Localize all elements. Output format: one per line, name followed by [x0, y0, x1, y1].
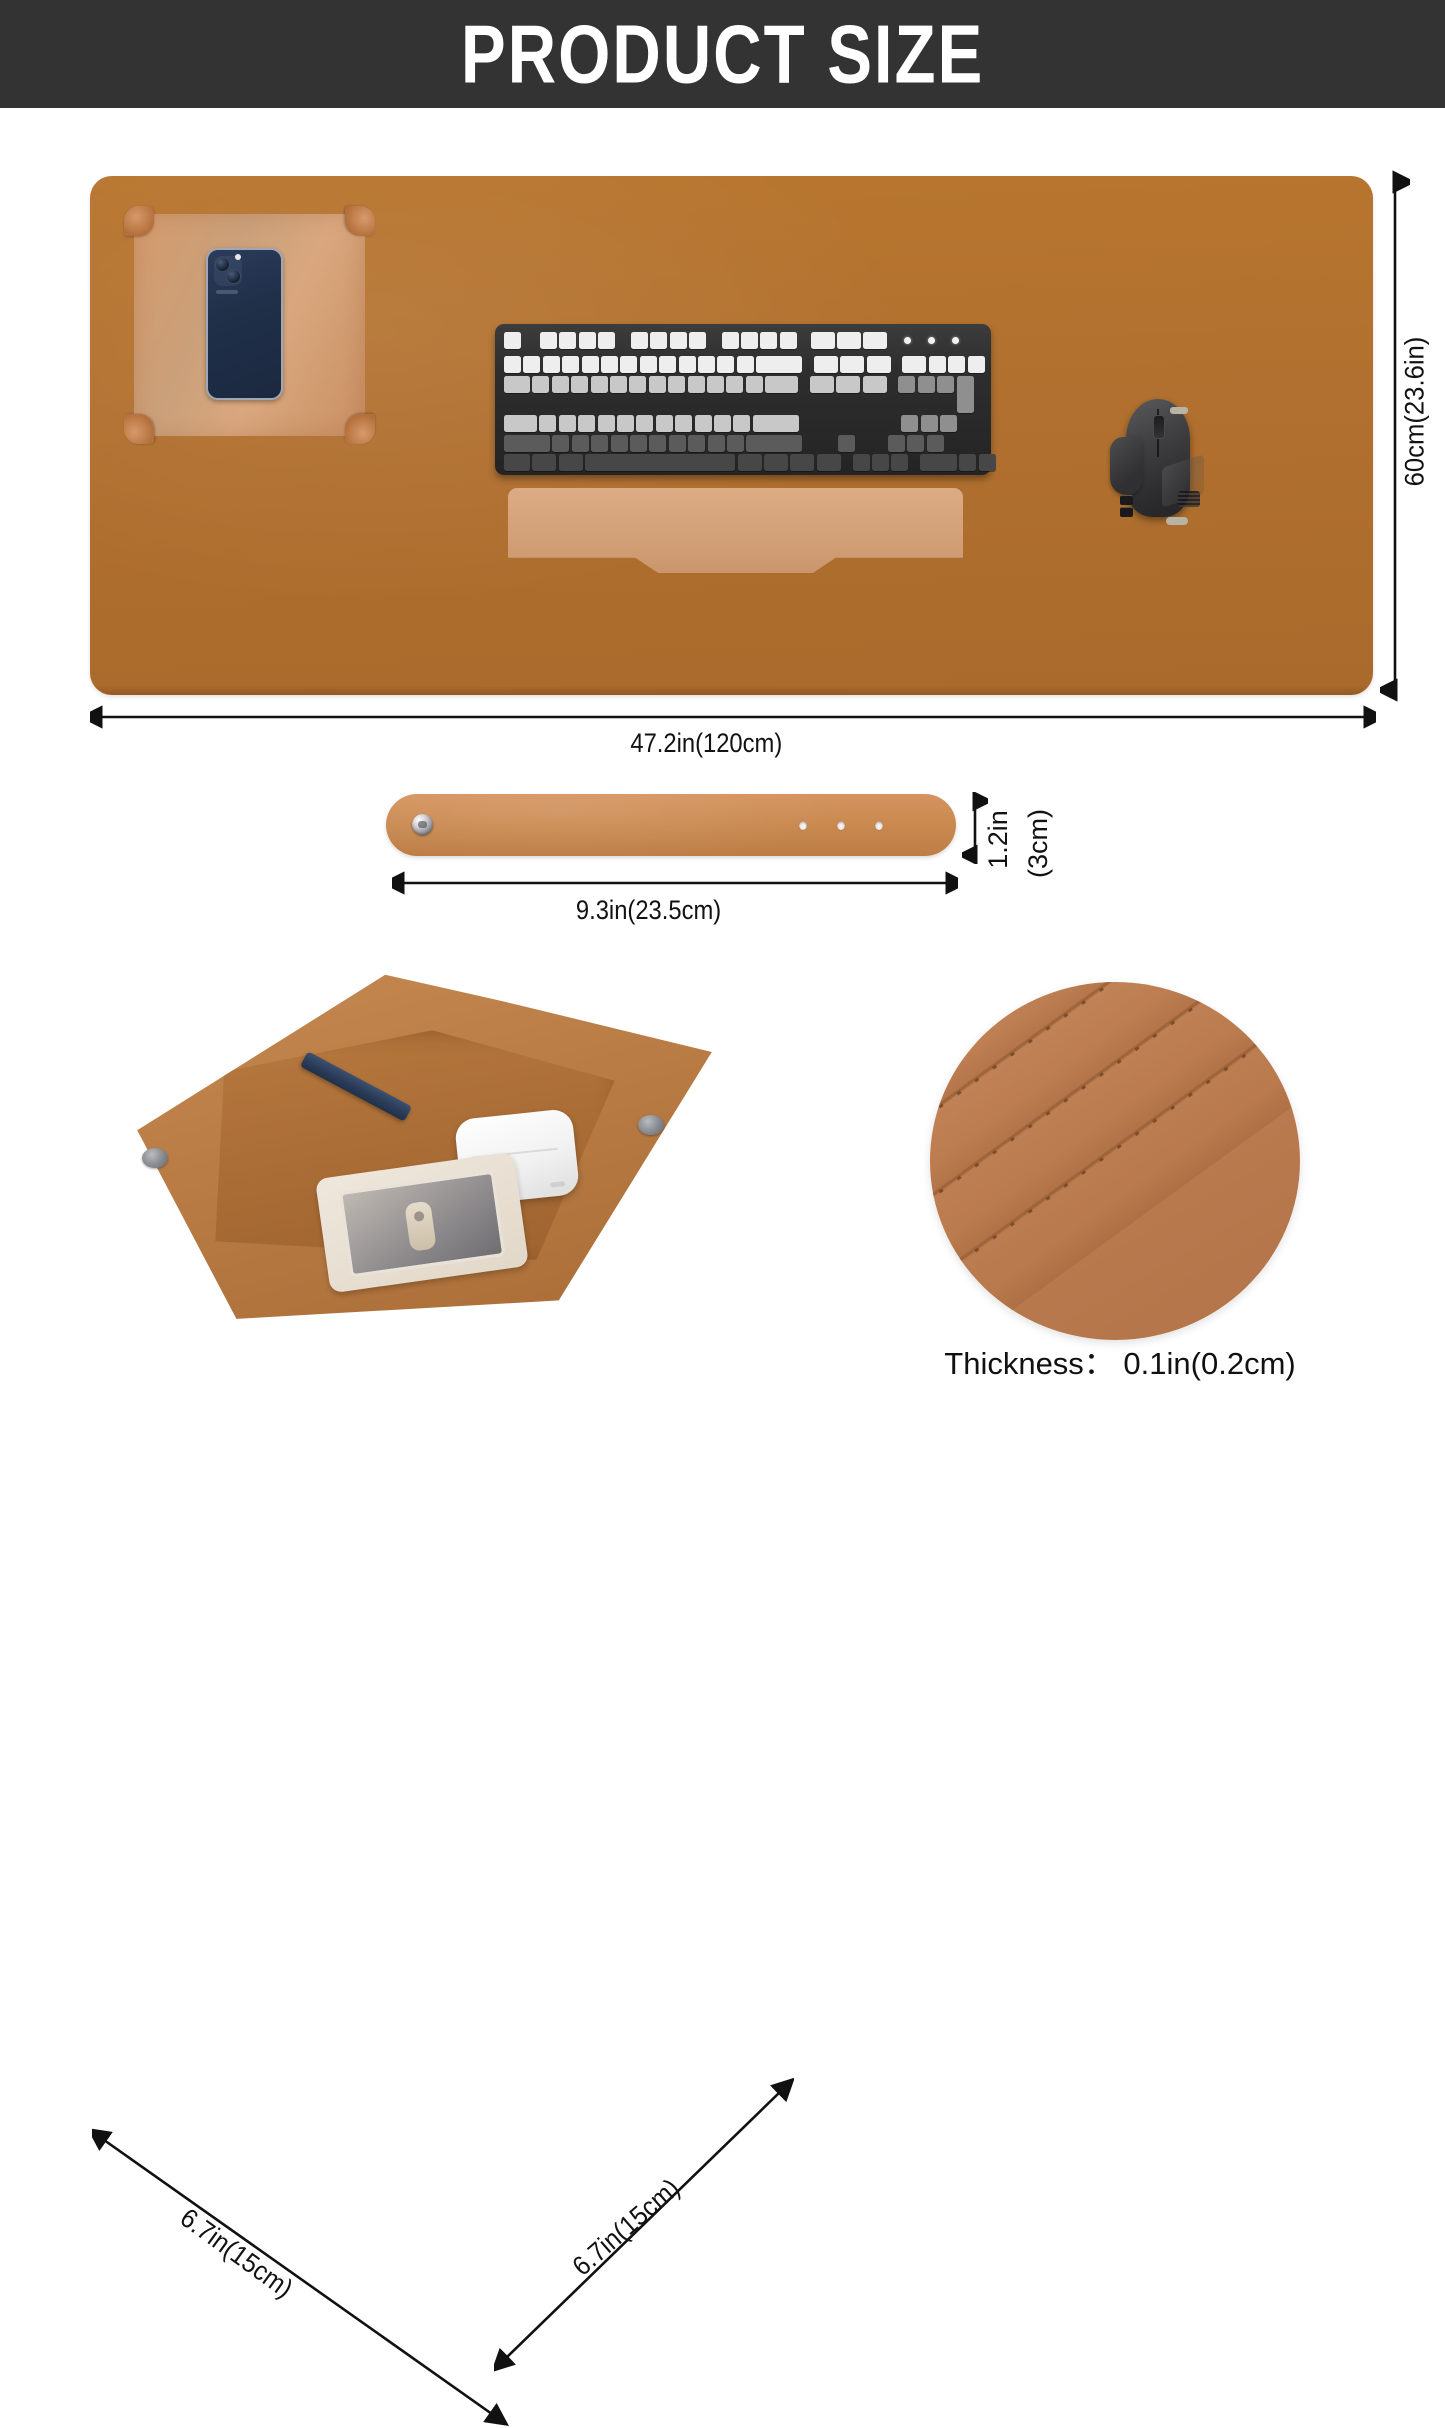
key-d: [578, 415, 595, 432]
key-f9: [722, 332, 739, 349]
key-8: [659, 356, 676, 373]
key-comma: [688, 435, 705, 452]
mat-width-label: 47.2in(120cm): [630, 728, 782, 759]
gaming-mouse: [1108, 391, 1206, 521]
key-b: [630, 435, 647, 452]
key-f11: [760, 332, 777, 349]
key-7: [640, 356, 657, 373]
key-q: [532, 376, 549, 393]
key-slash: [727, 435, 744, 452]
key-p: [707, 376, 724, 393]
key-bracket-left: [726, 376, 743, 393]
strap-snap-button: [412, 814, 433, 835]
tray-left-dimension-arrow: [95, 2100, 96, 2101]
key-num-lock: [902, 356, 926, 373]
key-esc: [504, 332, 521, 349]
key-end: [836, 376, 860, 393]
key-print-screen: [811, 332, 835, 349]
key-insert: [814, 356, 838, 373]
mouse-side-button: [1120, 507, 1133, 517]
tray-snap-button: [142, 1148, 168, 1168]
key-f2: [559, 332, 576, 349]
key-u: [649, 376, 666, 393]
key-numpad-6: [940, 415, 957, 432]
key-delete-cluster: [810, 376, 834, 393]
key-0: [698, 356, 715, 373]
key-i: [668, 376, 685, 393]
key-win-left: [532, 454, 556, 471]
key-backspace: [756, 356, 802, 373]
key-f: [598, 415, 615, 432]
key-4: [582, 356, 599, 373]
key-m: [669, 435, 686, 452]
key-tab: [504, 376, 530, 393]
mouse-thumb-rest: [1110, 437, 1142, 495]
key-delete: [863, 332, 887, 349]
key-j: [656, 415, 673, 432]
key-numpad-multiply: [948, 356, 965, 373]
page-title: PRODUCT SIZE: [461, 7, 984, 101]
key-f12: [780, 332, 797, 349]
key-numpad-8: [918, 376, 935, 393]
camera-lens-icon: [226, 269, 241, 284]
key-f6: [650, 332, 667, 349]
key-shift-right: [746, 435, 802, 452]
key-page-up: [867, 356, 891, 373]
keyboard-row-qwerty: [504, 376, 982, 413]
key-arrow-right-icon: [891, 454, 908, 471]
camera-flash-icon: [235, 254, 241, 260]
tray-corner-tie: [124, 414, 154, 444]
wrist-rest: [508, 488, 963, 573]
key-numpad-7: [898, 376, 915, 393]
key-minus: [717, 356, 734, 373]
key-semicolon: [714, 415, 731, 432]
strap-length-label: 9.3in(23.5cm): [576, 895, 721, 926]
key-a: [539, 415, 556, 432]
mat-height-label: 60cm(23.6in): [1399, 337, 1430, 487]
num-lock-led-icon: [904, 337, 911, 344]
key-numpad-2: [907, 435, 924, 452]
key-ctrl-right: [817, 454, 841, 471]
key-numpad-decimal: [959, 454, 976, 471]
key-l: [695, 415, 712, 432]
key-f4: [598, 332, 615, 349]
key-shift-left: [504, 435, 550, 452]
mouse-side-button: [1120, 495, 1133, 505]
mat-width-arrow: [90, 704, 1376, 730]
key-z: [552, 435, 569, 452]
tray-snap-button: [638, 1115, 664, 1135]
key-y: [629, 376, 646, 393]
key-arrow-left-icon: [853, 454, 870, 471]
key-numpad-9: [937, 376, 954, 393]
mouse-top-accent: [1170, 407, 1188, 414]
key-period: [708, 435, 725, 452]
key-f5: [631, 332, 648, 349]
key-menu-icon: [790, 454, 814, 471]
key-numpad-plus: [957, 376, 974, 413]
thickness-closeup-photo: [930, 982, 1300, 1340]
key-backslash: [765, 376, 798, 393]
key-f1: [540, 332, 557, 349]
key-f3: [579, 332, 596, 349]
key-f8: [689, 332, 706, 349]
valet-tray-photo: [100, 950, 720, 1350]
key-g: [617, 415, 634, 432]
key-alt-left: [559, 454, 583, 471]
key-numpad-divide: [929, 356, 946, 373]
key-9: [679, 356, 696, 373]
key-c: [591, 435, 608, 452]
key-scroll-lock: [837, 332, 861, 349]
keyboard-row-modifiers: [504, 454, 982, 471]
key-ctrl-left: [504, 454, 530, 471]
key-k: [675, 415, 692, 432]
mat-valet-tray: [122, 204, 377, 446]
keyboard-row-function: [504, 332, 982, 349]
key-3: [562, 356, 579, 373]
phone-camera-module: [214, 256, 242, 286]
key-numpad-1: [888, 435, 905, 452]
key-f10: [741, 332, 758, 349]
key-space: [585, 454, 735, 471]
keyboard-row-zxcv: [504, 435, 982, 452]
key-x: [572, 435, 589, 452]
key-1: [523, 356, 540, 373]
key-home: [840, 356, 864, 373]
tray-left-arrow: [92, 2128, 512, 2428]
strap-length-arrow: [392, 870, 958, 896]
mouse-bottom-accent: [1166, 517, 1188, 525]
key-backtick: [504, 356, 521, 373]
caps-lock-led-icon: [928, 337, 935, 344]
key-numpad-0: [920, 454, 957, 471]
header-banner: PRODUCT SIZE: [0, 0, 1445, 108]
key-enter: [753, 415, 799, 432]
phone-speaker-grille: [216, 290, 238, 294]
smartphone: [206, 248, 283, 400]
key-numpad-4: [901, 415, 918, 432]
tray-corner-tie: [124, 206, 154, 236]
key-numpad-3: [927, 435, 944, 452]
key-h: [636, 415, 653, 432]
strap-hole: [799, 821, 807, 830]
key-2: [543, 356, 560, 373]
key-t: [610, 376, 627, 393]
key-equals: [737, 356, 754, 373]
cable-strap-photo: [386, 794, 956, 856]
key-f7: [670, 332, 687, 349]
key-v: [611, 435, 628, 452]
strap-width-label-line2: (3cm): [1023, 809, 1054, 878]
mouse-scroll-wheel: [1153, 415, 1165, 439]
mouse-vent-grille: [1178, 491, 1200, 507]
key-numpad-5: [921, 415, 938, 432]
key-numpad-minus: [968, 356, 985, 373]
key-s: [559, 415, 576, 432]
thickness-caption: Thickness： 0.1in(0.2cm): [920, 1338, 1320, 1383]
tray-and-thickness-section: 6.7in(15cm) 6.7in(15cm) Thickness： 0.1in…: [0, 950, 1445, 1410]
key-5: [601, 356, 618, 373]
key-n: [649, 435, 666, 452]
key-fn: [764, 454, 788, 471]
tray-item-accessory-tab: [404, 1201, 436, 1252]
key-e: [571, 376, 588, 393]
key-bracket-right: [746, 376, 763, 393]
key-page-down: [863, 376, 887, 393]
key-r: [591, 376, 608, 393]
scroll-lock-led-icon: [952, 337, 959, 344]
strap-hole: [837, 821, 845, 830]
key-quote: [733, 415, 750, 432]
tray-item-accessory-face: [339, 1171, 505, 1278]
keyboard: [495, 324, 991, 475]
key-w: [552, 376, 569, 393]
key-arrow-up-icon: [838, 435, 855, 452]
keyboard-row-home: [504, 415, 982, 432]
strap-width-label-line1: 1.2in: [983, 810, 1014, 869]
desk-mat-photo: [90, 176, 1373, 695]
key-6: [620, 356, 637, 373]
desk-mat-section: 60cm(23.6in) 47.2in(120cm): [0, 108, 1445, 768]
tray-corner-tie: [345, 414, 375, 444]
tray-corner-tie: [345, 206, 375, 236]
key-alt-right: [738, 454, 762, 471]
key-o: [688, 376, 705, 393]
key-caps-lock: [504, 415, 537, 432]
key-numpad-enter: [979, 454, 996, 471]
key-arrow-down-icon: [872, 454, 889, 471]
strap-hole: [875, 821, 883, 830]
keyboard-row-numbers: [504, 356, 982, 373]
strap-section: 1.2in (3cm) 9.3in(23.5cm): [0, 770, 1445, 950]
